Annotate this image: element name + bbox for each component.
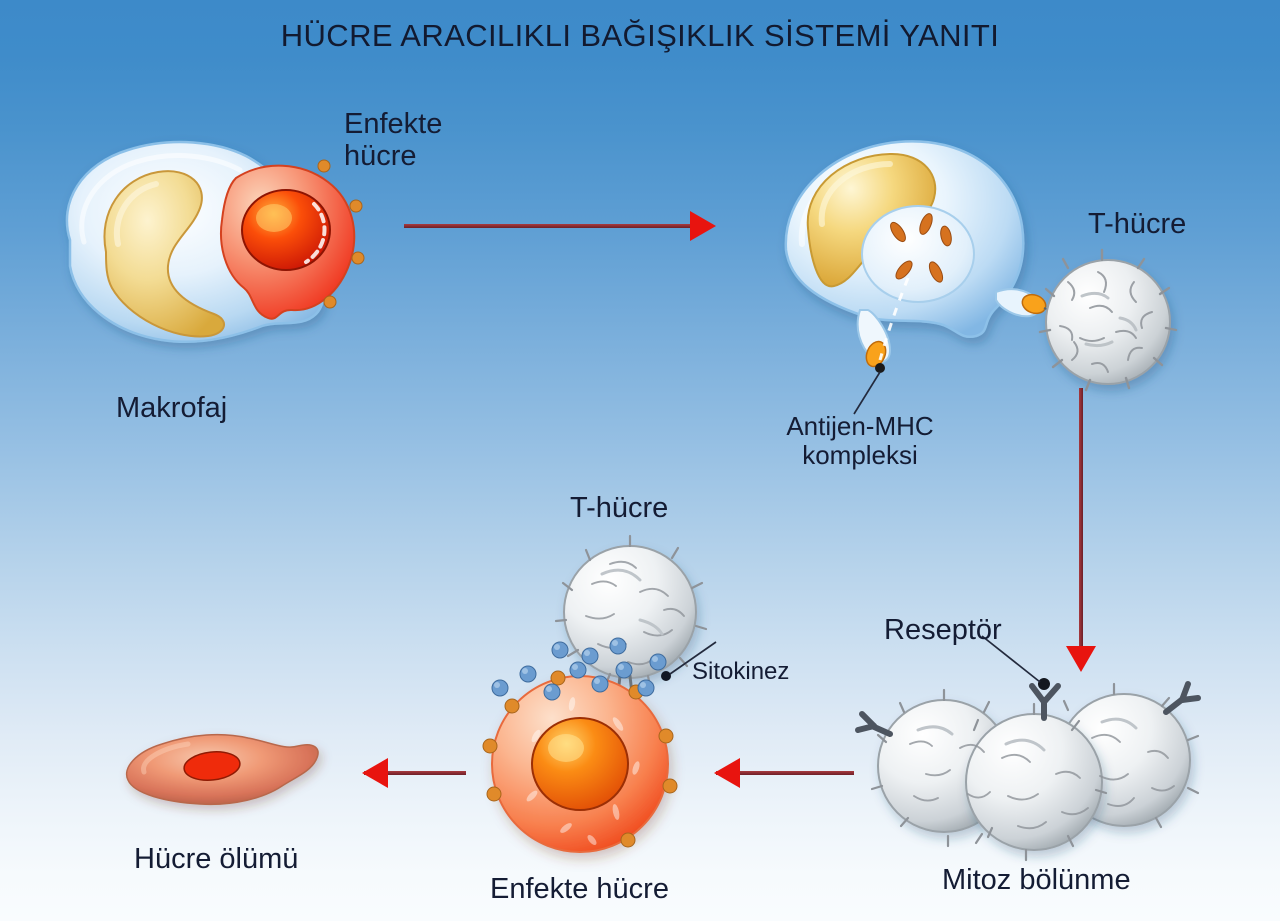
label-cytokinesis: Sitokinez: [692, 659, 789, 686]
mitosis-group: [856, 678, 1216, 868]
tcell-right: [1040, 250, 1176, 390]
antigen-mhc-leader: [854, 372, 880, 414]
receptor-tip-dot: [1038, 678, 1050, 690]
label-infected-cell-top: Enfekte hücre: [344, 108, 442, 173]
mitosis-cell-2: [966, 714, 1102, 850]
cytokinesis-leader-dot: [661, 671, 671, 681]
label-mitosis: Mitoz bölünme: [942, 864, 1131, 896]
infected-target-cell-group: [440, 664, 720, 864]
label-macrophage: Makrofaj: [116, 392, 227, 424]
dead-cell-group: [118, 716, 348, 826]
arrow-mitosis-to-infected: [716, 758, 868, 788]
diagram-canvas: HÜCRE ARACILIKLI BAĞIŞIKLIK SİSTEMİ YANI…: [0, 0, 1280, 921]
label-antigen-mhc: Antijen-MHC kompleksi: [730, 412, 990, 470]
antigen-vesicle: [862, 206, 974, 302]
receptor-y-left: [858, 714, 890, 734]
label-tcell-right: T-hücre: [1088, 208, 1186, 240]
arrow-infected-to-death: [364, 758, 480, 788]
label-receptor: Reseptör: [884, 614, 1002, 646]
receptor-y-right: [1166, 684, 1198, 712]
label-infected-cell-bottom: Enfekte hücre: [490, 873, 669, 905]
label-tcell-center: T-hücre: [570, 492, 668, 524]
label-cell-death: Hücre ölümü: [134, 843, 298, 875]
diagram-title: HÜCRE ARACILIKLI BAĞIŞIKLIK SİSTEMİ YANI…: [0, 18, 1280, 54]
arrow-macrophage-to-presenting: [404, 211, 714, 241]
infected-cell-nucleus: [532, 718, 628, 810]
arrow-tcell-to-mitosis: [1066, 388, 1096, 670]
antigen-presenting-group: [768, 132, 1188, 422]
